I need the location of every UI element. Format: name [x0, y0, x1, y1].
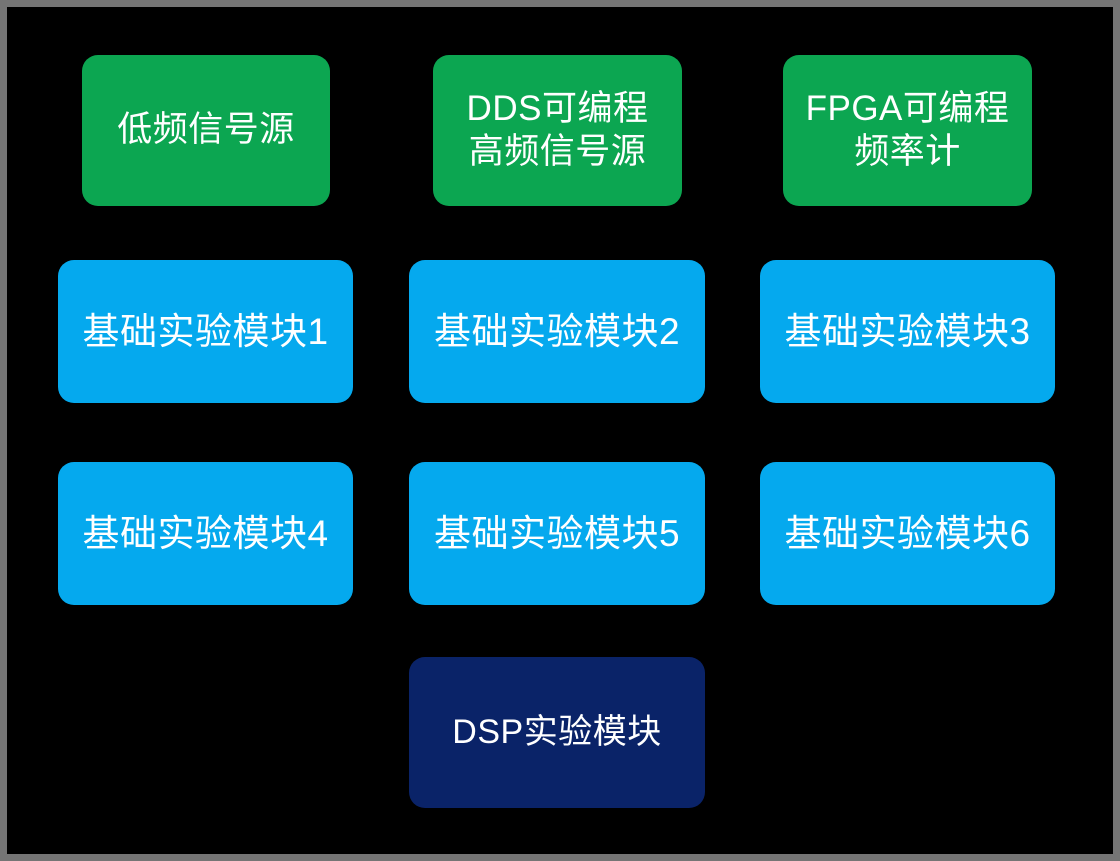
node-label: DDS可编程 高频信号源 — [461, 88, 655, 173]
node-label: 基础实验模块4 — [76, 511, 334, 556]
node-label: 基础实验模块1 — [76, 309, 334, 354]
node-basic-module-1[interactable]: 基础实验模块1 — [58, 260, 353, 403]
node-basic-module-4[interactable]: 基础实验模块4 — [58, 462, 353, 605]
node-dds-hf-source[interactable]: DDS可编程 高频信号源 — [433, 55, 682, 206]
node-dsp-module[interactable]: DSP实验模块 — [409, 657, 705, 808]
node-label: 基础实验模块6 — [778, 511, 1036, 556]
node-basic-module-3[interactable]: 基础实验模块3 — [760, 260, 1055, 403]
node-basic-module-2[interactable]: 基础实验模块2 — [409, 260, 705, 403]
node-label: DSP实验模块 — [446, 712, 667, 753]
node-fpga-freq-meter[interactable]: FPGA可编程 频率计 — [783, 55, 1032, 206]
node-label: 基础实验模块2 — [428, 309, 686, 354]
node-label: 基础实验模块3 — [778, 309, 1036, 354]
node-basic-module-5[interactable]: 基础实验模块5 — [409, 462, 705, 605]
node-low-freq-source[interactable]: 低频信号源 — [82, 55, 330, 206]
node-label: 低频信号源 — [111, 109, 301, 152]
node-label: FPGA可编程 频率计 — [800, 88, 1016, 173]
node-label: 基础实验模块5 — [428, 511, 686, 556]
node-basic-module-6[interactable]: 基础实验模块6 — [760, 462, 1055, 605]
diagram-canvas: 低频信号源 DDS可编程 高频信号源 FPGA可编程 频率计 基础实验模块1 基… — [0, 0, 1120, 861]
